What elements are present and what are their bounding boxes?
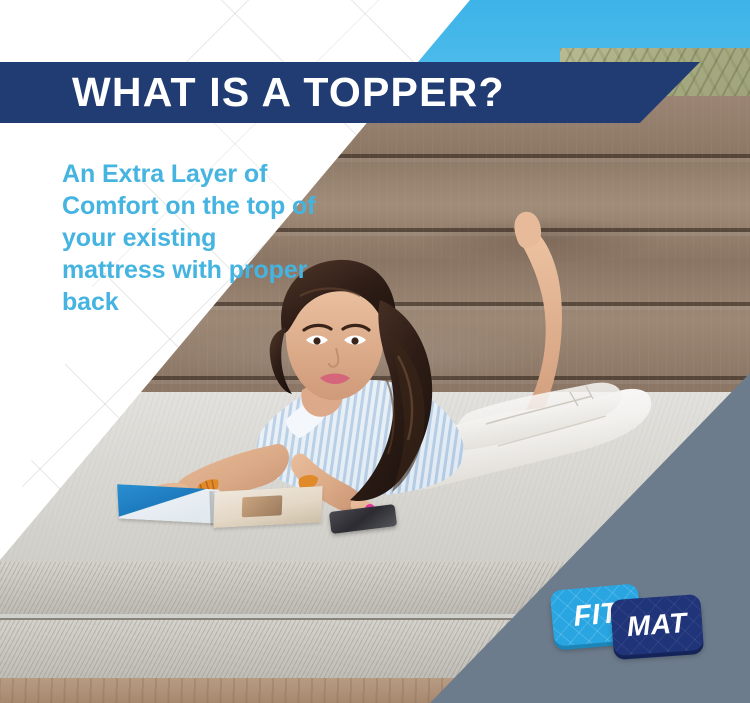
magazine-right-page [213,486,322,528]
logo-text-mat: MAT [626,607,688,643]
open-magazine [118,483,318,539]
page-title: WHAT IS A TOPPER? [72,69,505,116]
logo-tile-mat: MAT [610,594,704,656]
brand-logo[interactable]: FIT MAT [552,583,702,661]
advertisement-banner: WHAT IS A TOPPER? An Extra Layer of Comf… [0,0,750,703]
subtitle-text: An Extra Layer of Comfort on the top of … [62,158,324,318]
magazine-left-page [117,484,221,524]
headline-banner: WHAT IS A TOPPER? [0,62,700,123]
